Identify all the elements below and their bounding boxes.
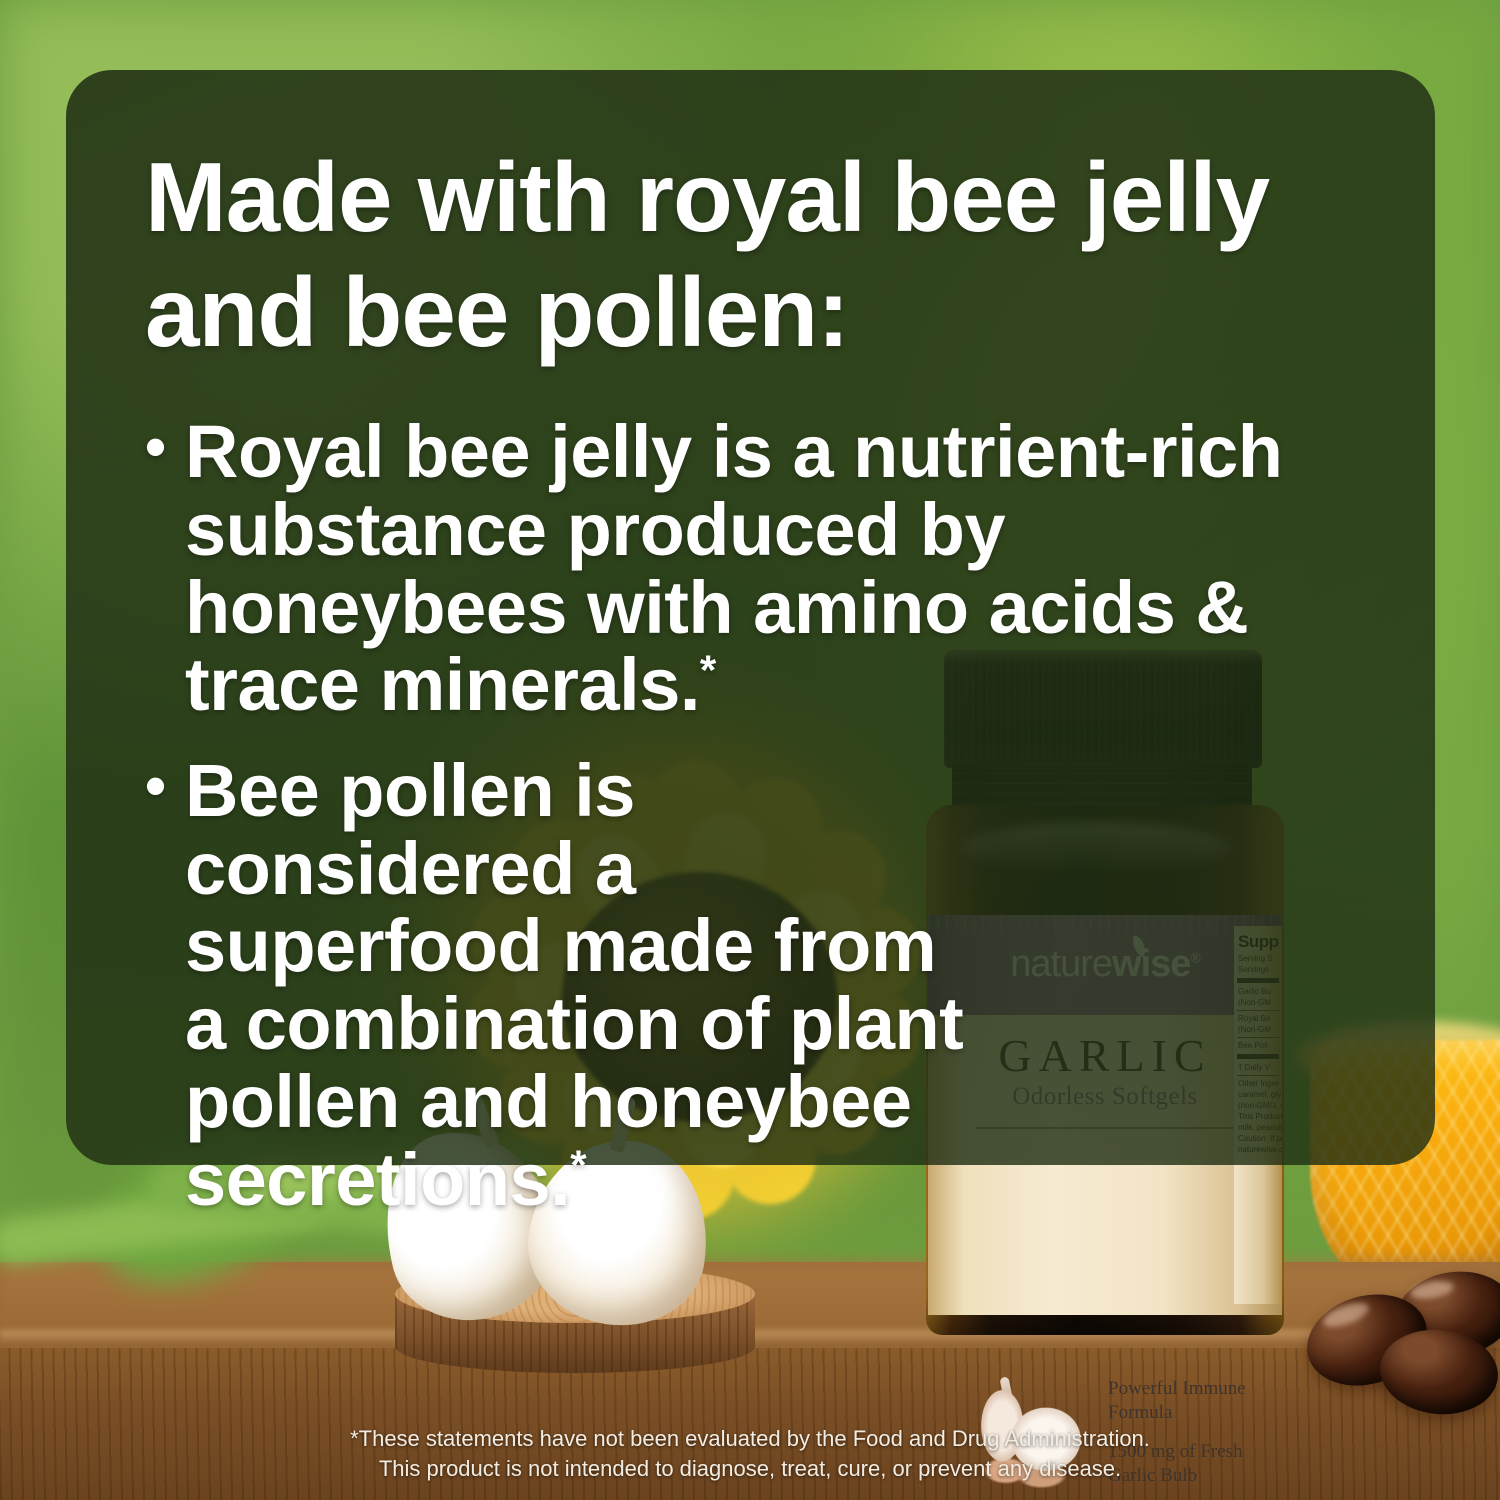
disclaimer-line-2: This product is not intended to diagnose… — [0, 1454, 1500, 1484]
footnote-marker: * — [700, 647, 716, 694]
marketing-image: GARLIC Odorless Softgels Powerful Immune… — [0, 0, 1500, 1500]
marketing-copy: Made with royal bee jelly and bee pollen… — [145, 140, 1325, 1246]
fda-disclaimer: *These statements have not been evaluate… — [0, 1424, 1500, 1485]
footnote-marker: * — [570, 1141, 586, 1188]
bullet-text: Royal bee jelly is a nutrient-rich subst… — [185, 410, 1282, 726]
bullet-item: Royal bee jelly is a nutrient-rich subst… — [145, 413, 1325, 724]
bullet-item: Bee pollen is considered a superfood mad… — [145, 752, 975, 1218]
disclaimer-line-1: *These statements have not been evaluate… — [0, 1424, 1500, 1454]
benefit-bullet-list: Royal bee jelly is a nutrient-rich subst… — [145, 413, 1325, 1218]
headline: Made with royal bee jelly and bee pollen… — [145, 140, 1325, 369]
benefit-item: Powerful Immune Formula — [1108, 1377, 1268, 1426]
